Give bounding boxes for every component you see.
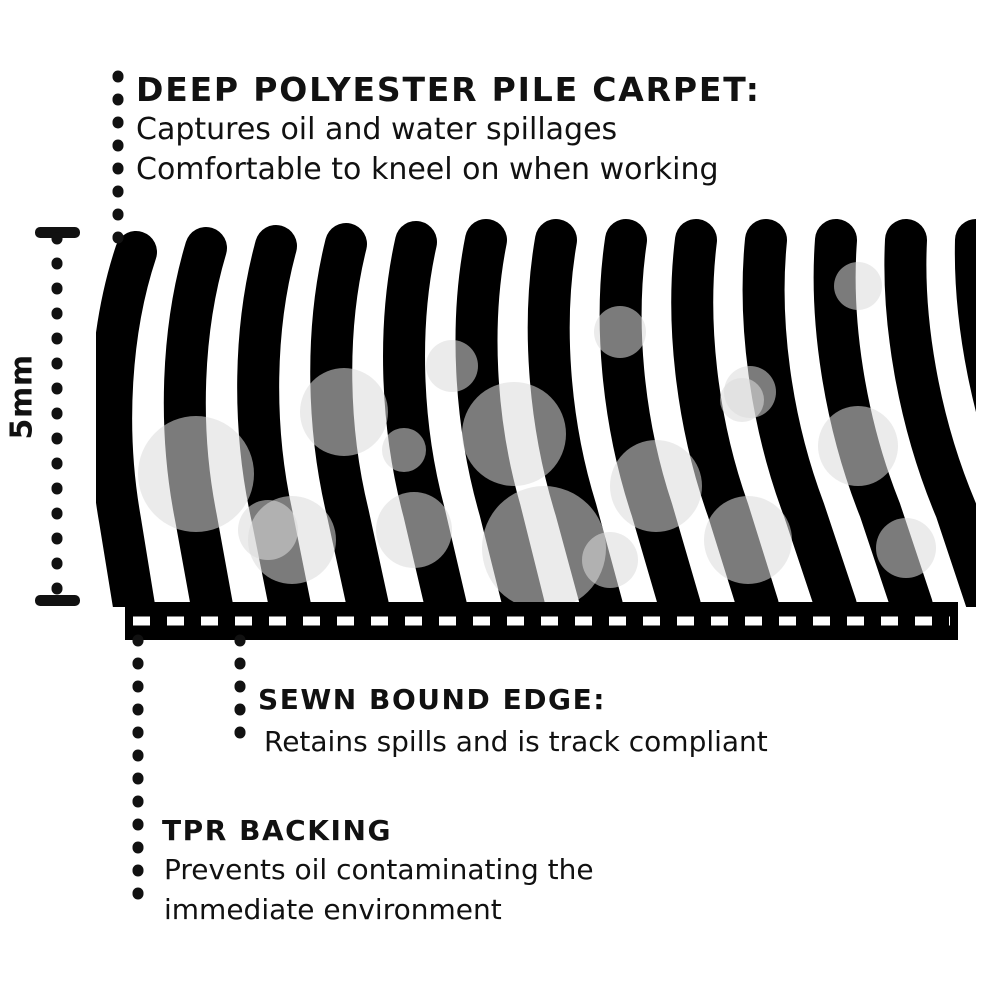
spill-droplet [834,262,882,310]
pile-fiber [111,252,136,606]
spill-droplet [138,416,254,532]
callout-line: Retains spills and is track compliant [258,719,768,765]
spill-droplet [426,340,478,392]
callout-tpr-backing: TPR BACKING Prevents oil contaminating t… [162,812,594,930]
spill-droplet [724,366,776,418]
diagram-canvas: 5mm DEEP POLYESTER PILE CARPET: Captures… [0,0,1000,1000]
spill-droplet [594,306,646,358]
dimension-line-5mm [35,227,80,606]
spill-droplet [876,518,936,578]
spill-droplet [582,532,638,588]
callout-heading: DEEP POLYESTER PILE CARPET: [136,70,761,110]
spill-droplet [382,428,426,472]
callout-heading: SEWN BOUND EDGE: [258,681,768,719]
callout-line: immediate environment [162,890,594,930]
callout-deep-polyester-pile-carpet: DEEP POLYESTER PILE CARPET: Captures oil… [136,70,761,190]
spill-droplet [238,500,298,560]
callout-heading: TPR BACKING [162,812,594,850]
callout-line: Captures oil and water spillages [136,110,761,150]
dimension-cap-bottom [35,595,80,606]
dimension-label: 5mm [5,360,40,440]
callout-line: Comfortable to kneel on when working [136,150,761,190]
callout-sewn-bound-edge: SEWN BOUND EDGE: Retains spills and is t… [258,681,768,765]
spill-droplet [462,382,566,486]
spill-droplet [704,496,792,584]
spill-droplet [610,440,702,532]
pile-fiber [976,240,1000,606]
callout-line: Prevents oil contaminating the [162,850,594,890]
spill-droplet [300,368,388,456]
spill-droplet [376,492,452,568]
spill-droplet [818,406,898,486]
